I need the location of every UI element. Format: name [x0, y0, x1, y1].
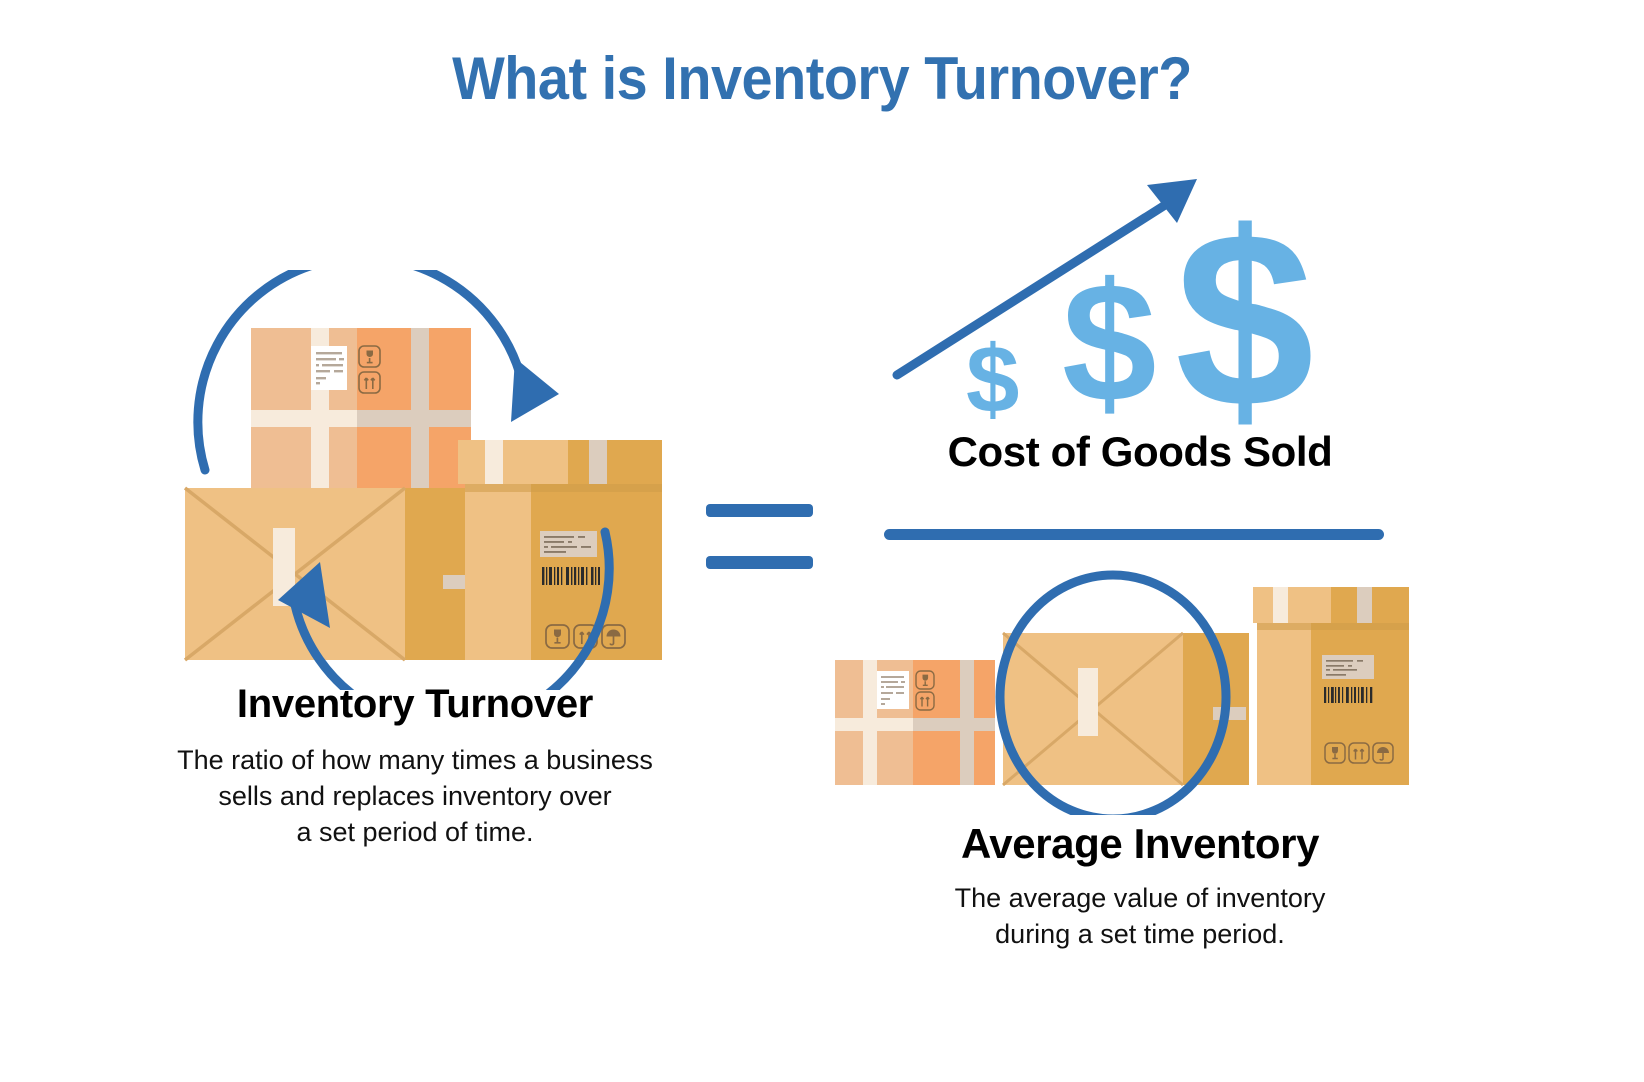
upward-arrow-icon: [885, 175, 1215, 395]
infographic-canvas: What is Inventory Turnover?: [0, 0, 1644, 1082]
inventory-turnover-illustration: [165, 270, 685, 690]
left-description-line-3: a set period of time.: [95, 814, 735, 850]
equals-sign-top-bar: [706, 504, 813, 517]
shipping-label-avg-small: [877, 671, 909, 709]
left-description-line-2: sells and replaces inventory over: [95, 778, 735, 814]
tall-box-right: [458, 440, 662, 660]
large-box-front: [185, 488, 485, 660]
left-description-line-1: The ratio of how many times a business: [95, 742, 735, 778]
barcode: [542, 567, 600, 585]
equals-sign-bottom-bar: [706, 556, 813, 569]
avg-tall-box: [1253, 587, 1409, 785]
left-heading: Inventory Turnover: [0, 682, 830, 727]
dollar-sign-small: $: [966, 332, 1019, 428]
cost-of-goods-sold-label: Cost of Goods Sold: [830, 428, 1450, 476]
small-box-top: [251, 328, 471, 488]
left-description: The ratio of how many times a business s…: [95, 742, 735, 850]
average-inventory-description: The average value of inventory during a …: [830, 880, 1450, 952]
avg-description-line-2: during a set time period.: [830, 916, 1450, 952]
avg-small-box: [835, 660, 995, 785]
dollar-sign-large: $: [1175, 195, 1314, 445]
shipping-label-small: [311, 346, 347, 390]
shipping-label-avg-tall: [1322, 655, 1374, 679]
shipping-label-large: [540, 531, 597, 557]
average-inventory-illustration: [825, 555, 1425, 815]
dollar-sign-medium: $: [1062, 258, 1157, 428]
average-inventory-heading: Average Inventory: [830, 820, 1450, 868]
fraction-divider: [884, 529, 1384, 540]
page-title: What is Inventory Turnover?: [58, 44, 1587, 113]
avg-description-line-1: The average value of inventory: [830, 880, 1450, 916]
